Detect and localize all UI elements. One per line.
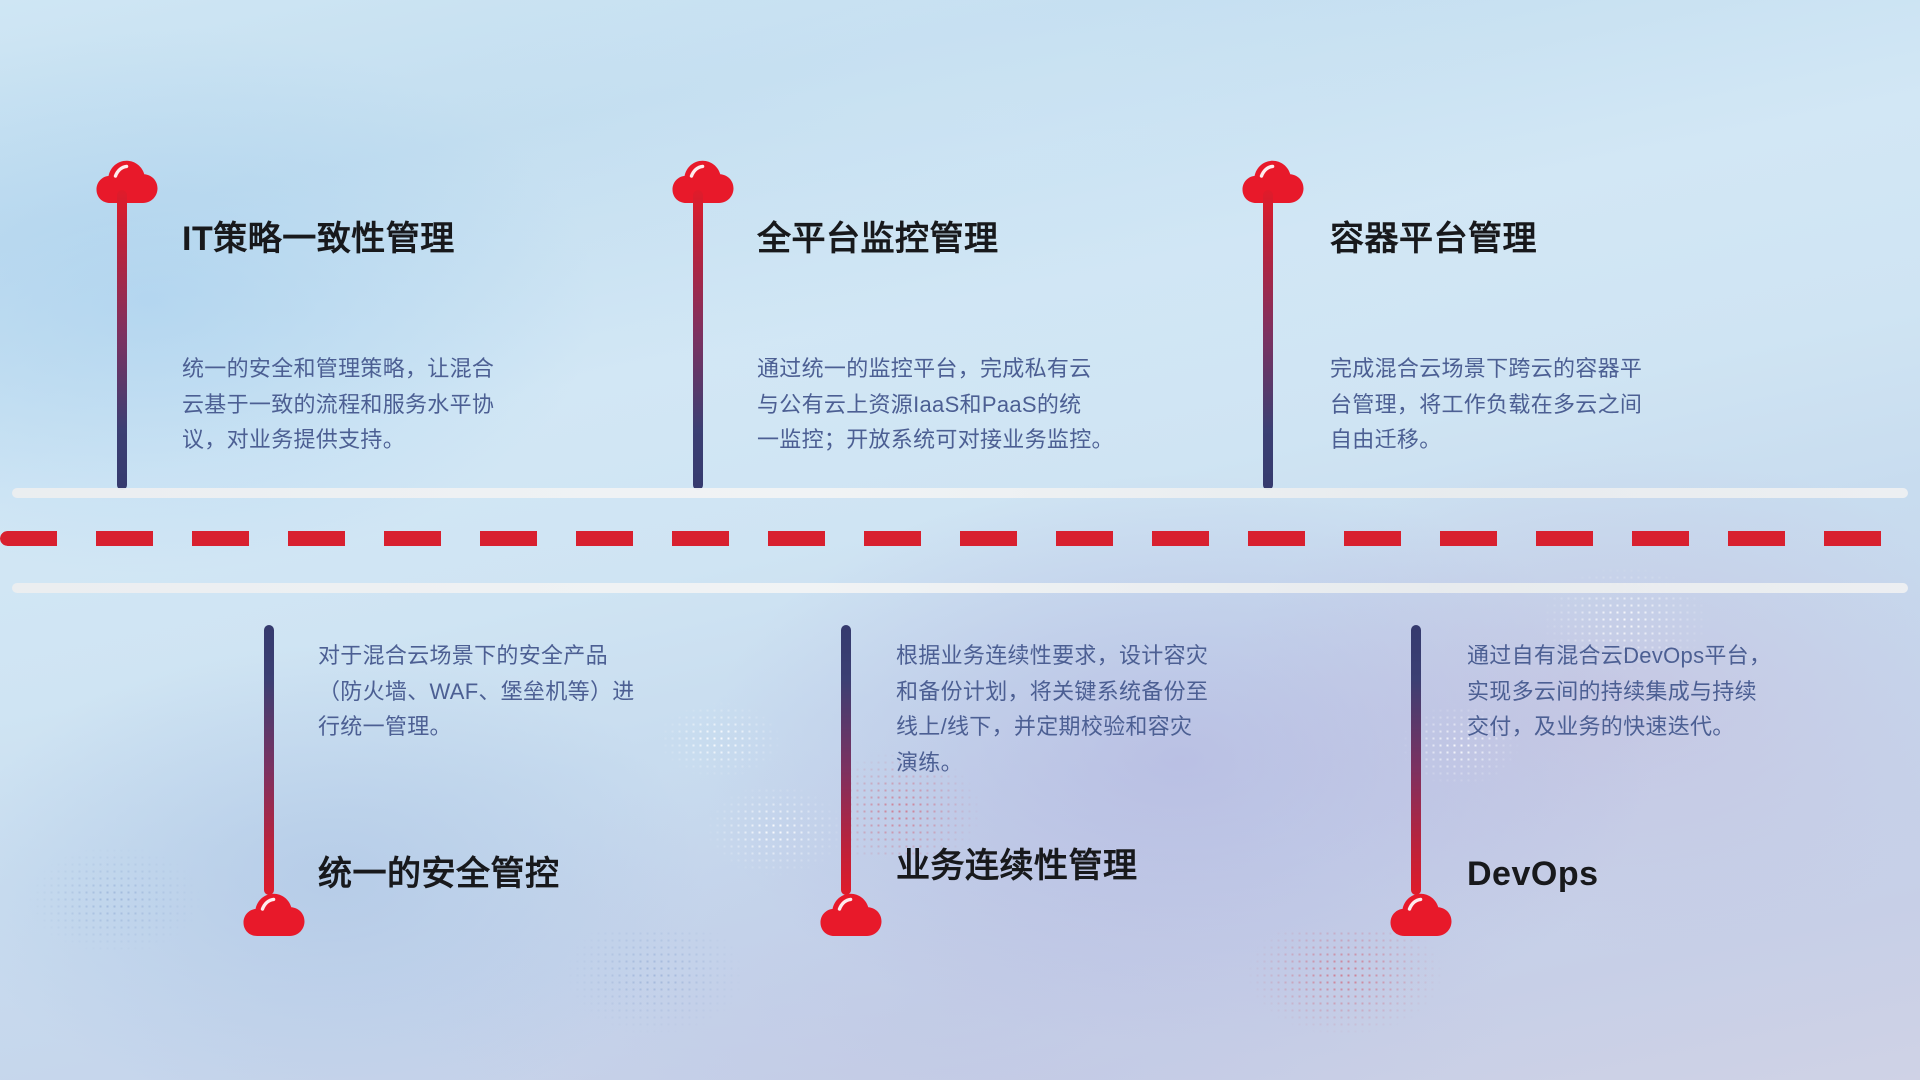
body-bottom-1: 对于混合云场景下的安全产品 （防火墙、WAF、堡垒机等）进 行统一管理。 bbox=[318, 638, 748, 745]
body-bottom-3: 通过自有混合云DevOps平台， 实现多云间的持续集成与持续 交付，及业务的快速… bbox=[1467, 638, 1897, 745]
card-bottom-2: 根据业务连续性要求，设计容灾 和备份计划，将关键系统备份至 线上/线下，并定期校… bbox=[896, 638, 1336, 883]
body-top-2: 通过统一的监控平台，完成私有云 与公有云上资源IaaS和PaaS的统 一监控；开… bbox=[757, 351, 1217, 458]
heading-bottom-1: 统一的安全管控 bbox=[318, 857, 748, 891]
heading-bottom-3: DevOps bbox=[1467, 857, 1897, 891]
heading-top-2: 全平台监控管理 bbox=[757, 222, 1217, 256]
stem-bottom-2 bbox=[841, 625, 851, 895]
divider-road bbox=[0, 488, 1920, 598]
road-line-bottom bbox=[12, 583, 1908, 593]
road-line-top bbox=[12, 488, 1908, 498]
cloud-icon bbox=[96, 160, 158, 204]
stem-bottom-1 bbox=[264, 625, 274, 895]
cloud-icon bbox=[820, 893, 882, 937]
stem-top-1 bbox=[117, 190, 127, 490]
card-top-2: 全平台监控管理 通过统一的监控平台，完成私有云 与公有云上资源IaaS和PaaS… bbox=[757, 222, 1217, 458]
heading-bottom-2: 业务连续性管理 bbox=[896, 849, 1336, 883]
dot-texture-5 bbox=[1240, 930, 1450, 1040]
cloud-icon bbox=[1390, 893, 1452, 937]
marker-top-1 bbox=[96, 160, 158, 204]
marker-top-3 bbox=[1242, 160, 1304, 204]
card-top-1: IT策略一致性管理 统一的安全和管理策略，让混合 云基于一致的流程和服务水平协 … bbox=[182, 222, 612, 458]
card-bottom-3: 通过自有混合云DevOps平台， 实现多云间的持续集成与持续 交付，及业务的快速… bbox=[1467, 638, 1897, 891]
marker-top-2 bbox=[672, 160, 734, 204]
road-dashed-centerline bbox=[0, 531, 1920, 546]
stem-bottom-3 bbox=[1411, 625, 1421, 895]
body-top-3: 完成混合云场景下跨云的容器平 台管理，将工作负载在多云之间 自由迁移。 bbox=[1330, 351, 1770, 458]
cloud-icon bbox=[1242, 160, 1304, 204]
card-top-3: 容器平台管理 完成混合云场景下跨云的容器平 台管理，将工作负载在多云之间 自由迁… bbox=[1330, 222, 1770, 458]
infographic-canvas: IT策略一致性管理 统一的安全和管理策略，让混合 云基于一致的流程和服务水平协 … bbox=[0, 0, 1920, 1080]
cloud-icon bbox=[672, 160, 734, 204]
dot-texture-6 bbox=[560, 930, 750, 1040]
cloud-icon bbox=[243, 893, 305, 937]
heading-top-1: IT策略一致性管理 bbox=[182, 222, 612, 256]
card-bottom-1: 对于混合云场景下的安全产品 （防火墙、WAF、堡垒机等）进 行统一管理。 统一的… bbox=[318, 638, 748, 891]
stem-top-2 bbox=[693, 190, 703, 490]
dot-texture-8 bbox=[20, 840, 210, 960]
heading-top-3: 容器平台管理 bbox=[1330, 222, 1770, 256]
body-top-1: 统一的安全和管理策略，让混合 云基于一致的流程和服务水平协 议，对业务提供支持。 bbox=[182, 351, 612, 458]
body-bottom-2: 根据业务连续性要求，设计容灾 和备份计划，将关键系统备份至 线上/线下，并定期校… bbox=[896, 638, 1336, 781]
stem-top-3 bbox=[1263, 190, 1273, 490]
